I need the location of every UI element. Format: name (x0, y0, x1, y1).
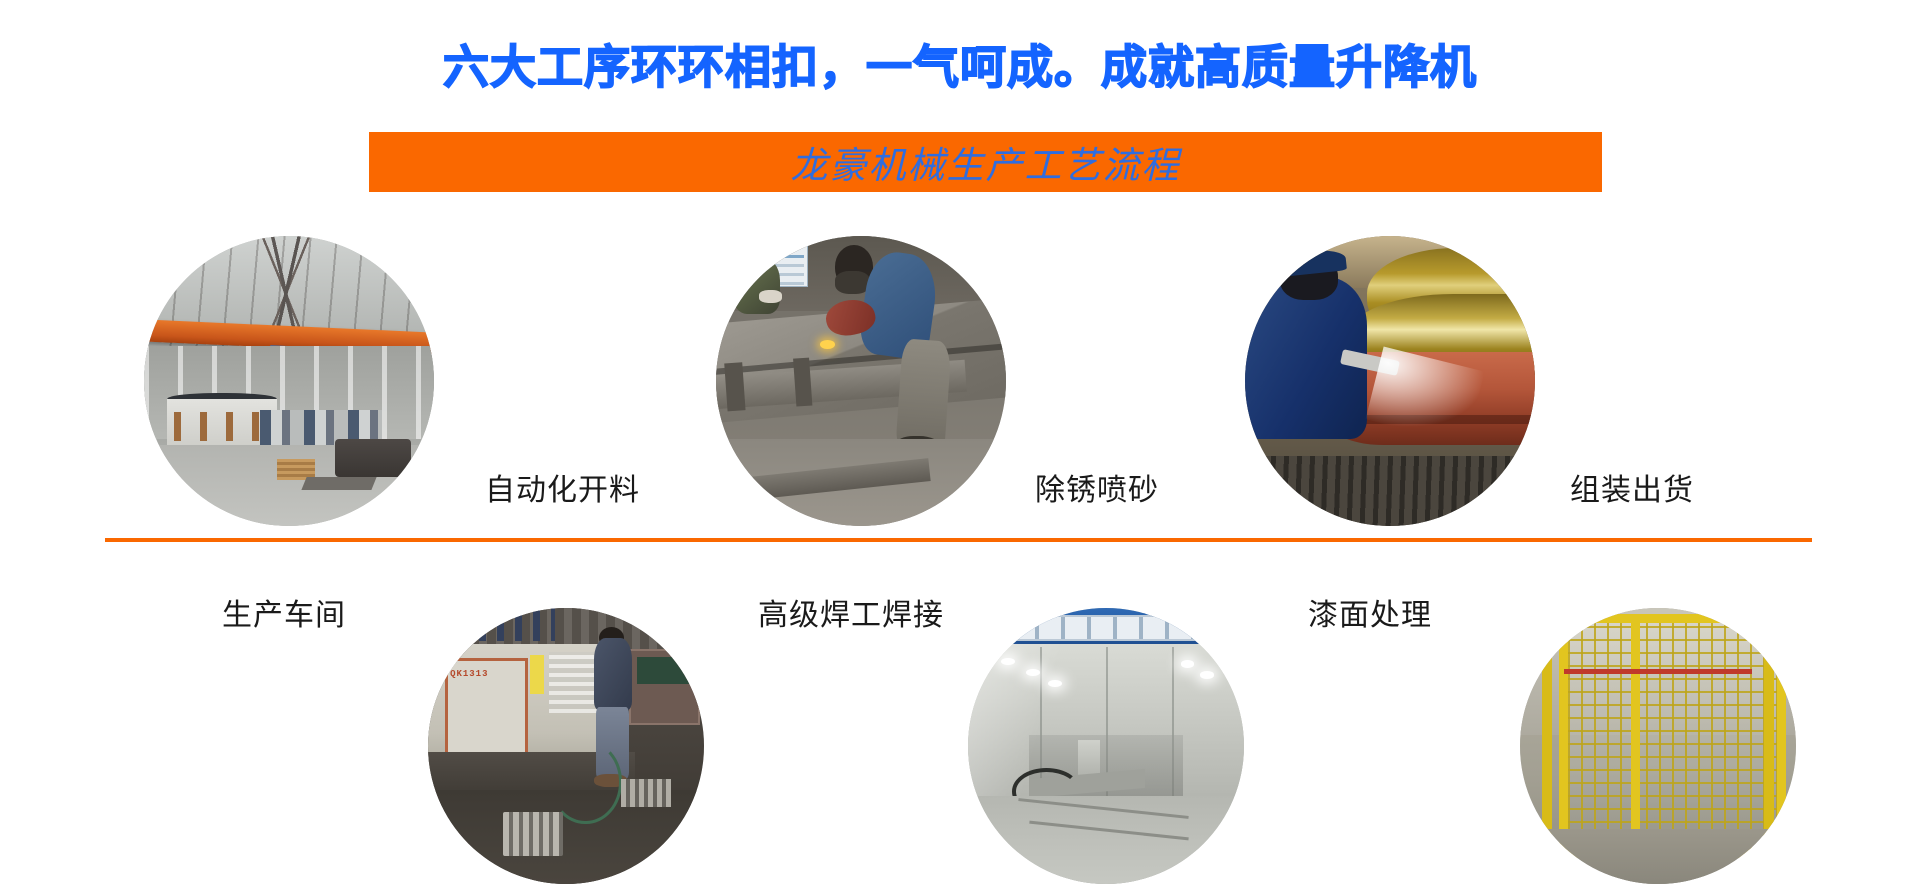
paint-booth-photo-scene (968, 608, 1244, 884)
assembly-photo-scene (1520, 608, 1796, 884)
process-label-assembly-shipping: 组装出货 (1570, 465, 1694, 509)
process-photo-cnc-lathe: QK1313 (428, 608, 704, 884)
process-label-automated-cutting: 自动化开料 (485, 465, 640, 509)
process-photo-assembly (1520, 608, 1796, 884)
blasting-photo-scene (1245, 236, 1535, 526)
workshop-photo-scene (144, 236, 434, 526)
subtitle-banner: 龙豪机械生产工艺流程 (369, 132, 1602, 192)
process-photo-blasting (1245, 236, 1535, 526)
process-label-paint-finishing: 漆面处理 (1308, 590, 1432, 634)
cnc-photo-scene: QK1313 (428, 608, 704, 884)
process-label-sandblasting: 除锈喷砂 (1035, 465, 1159, 509)
process-label-senior-welder: 高级焊工焊接 (758, 590, 944, 634)
cnc-machine-brand-text: QK1313 (450, 669, 488, 679)
page-title: 六大工序环环相扣，一气呵成。成就高质量升降机 (0, 42, 1920, 93)
welding-photo-scene (716, 236, 1006, 526)
process-photo-workshop (144, 236, 434, 526)
process-photo-paint-booth (968, 608, 1244, 884)
section-divider (105, 538, 1812, 542)
poster-root: 六大工序环环相扣，一气呵成。成就高质量升降机 龙豪机械生产工艺流程 自动化开料 … (0, 0, 1920, 884)
process-photo-welding (716, 236, 1006, 526)
process-label-production-workshop: 生产车间 (222, 590, 346, 634)
subtitle-banner-label: 龙豪机械生产工艺流程 (791, 135, 1181, 189)
